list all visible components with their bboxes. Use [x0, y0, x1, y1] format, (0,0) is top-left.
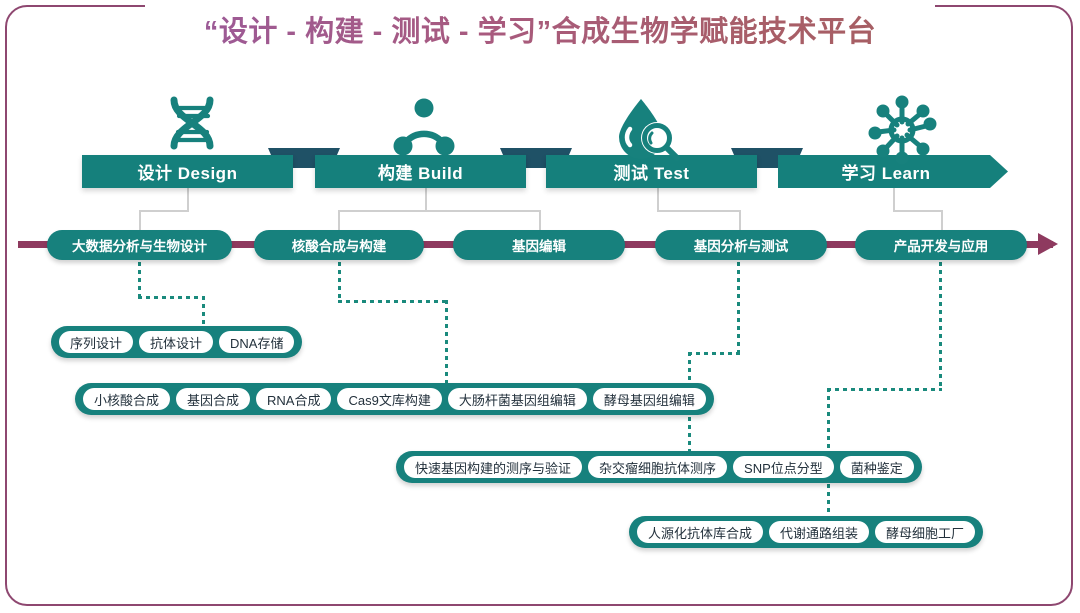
dotted-cap5-drop [827, 388, 830, 450]
capability-label: 基因编辑 [512, 235, 566, 255]
dotted-cap3-stem [737, 262, 740, 355]
bracket-design-drop [139, 210, 141, 232]
dotted-cap5-arm [827, 388, 942, 391]
detail-chip[interactable]: 酵母细胞工厂 [875, 521, 975, 543]
dotted-cap5-stem [939, 262, 942, 390]
dotted-test-to-learn [827, 484, 830, 516]
dna-helix-icon [150, 94, 234, 171]
detail-chip[interactable]: 小核酸合成 [83, 388, 170, 410]
detail-chip[interactable]: 代谢通路组装 [769, 521, 869, 543]
detail-group-testing: 快速基因构建的测序与验证 杂交瘤细胞抗体测序 SNP位点分型 菌种鉴定 [396, 451, 922, 483]
capability-pill-1[interactable]: 大数据分析与生物设计 [47, 230, 232, 260]
detail-group-learning: 人源化抗体库合成 代谢通路组装 酵母细胞工厂 [629, 516, 983, 548]
bracket-build-stem [425, 188, 427, 212]
detail-chip[interactable]: 序列设计 [59, 331, 133, 353]
bracket-test-arm [657, 210, 741, 212]
dotted-cap1-arm [138, 296, 205, 299]
detail-chip[interactable]: 菌种鉴定 [840, 456, 914, 478]
detail-chip[interactable]: 杂交瘤细胞抗体测序 [588, 456, 727, 478]
bracket-learn-drop [941, 210, 943, 232]
detail-chip[interactable]: DNA存储 [219, 331, 294, 353]
detail-chip[interactable]: SNP位点分型 [733, 456, 834, 478]
detail-chip[interactable]: 酵母基因组编辑 [593, 388, 706, 410]
molecule-triangle-icon [390, 96, 458, 167]
bracket-design-arm [139, 210, 189, 212]
dotted-cap2-drop [445, 300, 448, 383]
capability-label: 核酸合成与构建 [292, 235, 387, 255]
network-nodes-icon [864, 92, 940, 173]
capability-label: 基因分析与测试 [694, 235, 789, 255]
dotted-cap1-drop [202, 296, 205, 326]
page-title: “设计 - 构建 - 测试 - 学习”合成生物学赋能技术平台 [0, 8, 1080, 50]
bracket-test-stem [657, 188, 659, 212]
bracket-test-drop [739, 210, 741, 232]
capability-pill-2[interactable]: 核酸合成与构建 [254, 230, 424, 260]
capability-label: 大数据分析与生物设计 [72, 235, 207, 255]
detail-group-design: 序列设计 抗体设计 DNA存储 [51, 326, 302, 358]
detail-chip[interactable]: 大肠杆菌基因组编辑 [448, 388, 587, 410]
detail-chip[interactable]: 快速基因构建的测序与验证 [404, 456, 582, 478]
capability-pill-5[interactable]: 产品开发与应用 [855, 230, 1027, 260]
dotted-cap3-drop [688, 352, 691, 384]
capability-label: 产品开发与应用 [894, 235, 989, 255]
capability-pill-3[interactable]: 基因编辑 [453, 230, 625, 260]
detail-chip[interactable]: Cas9文库构建 [337, 388, 441, 410]
bracket-build-arm [338, 210, 541, 212]
detail-group-synthesis: 小核酸合成 基因合成 RNA合成 Cas9文库构建 大肠杆菌基因组编辑 酵母基因… [75, 383, 714, 415]
droplet-magnifier-icon [611, 97, 683, 168]
bracket-learn-stem [893, 188, 895, 212]
dotted-cap1-stem [138, 262, 141, 298]
dotted-synth-to-test [688, 417, 691, 451]
detail-chip[interactable]: RNA合成 [256, 388, 331, 410]
dotted-cap2-stem [338, 262, 341, 302]
bracket-design-stem [187, 188, 189, 212]
bracket-build-drop-left [338, 210, 340, 232]
bracket-build-drop-right [539, 210, 541, 232]
detail-chip[interactable]: 人源化抗体库合成 [637, 521, 763, 543]
infographic-canvas: “设计 - 构建 - 测试 - 学习”合成生物学赋能技术平台 [0, 0, 1080, 613]
process-spine-arrowhead [1038, 233, 1058, 255]
detail-chip[interactable]: 抗体设计 [139, 331, 213, 353]
dotted-cap2-arm [338, 300, 448, 303]
detail-chip[interactable]: 基因合成 [176, 388, 250, 410]
dotted-cap3-arm [688, 352, 740, 355]
capability-pill-4[interactable]: 基因分析与测试 [655, 230, 827, 260]
bracket-learn-arm [893, 210, 943, 212]
